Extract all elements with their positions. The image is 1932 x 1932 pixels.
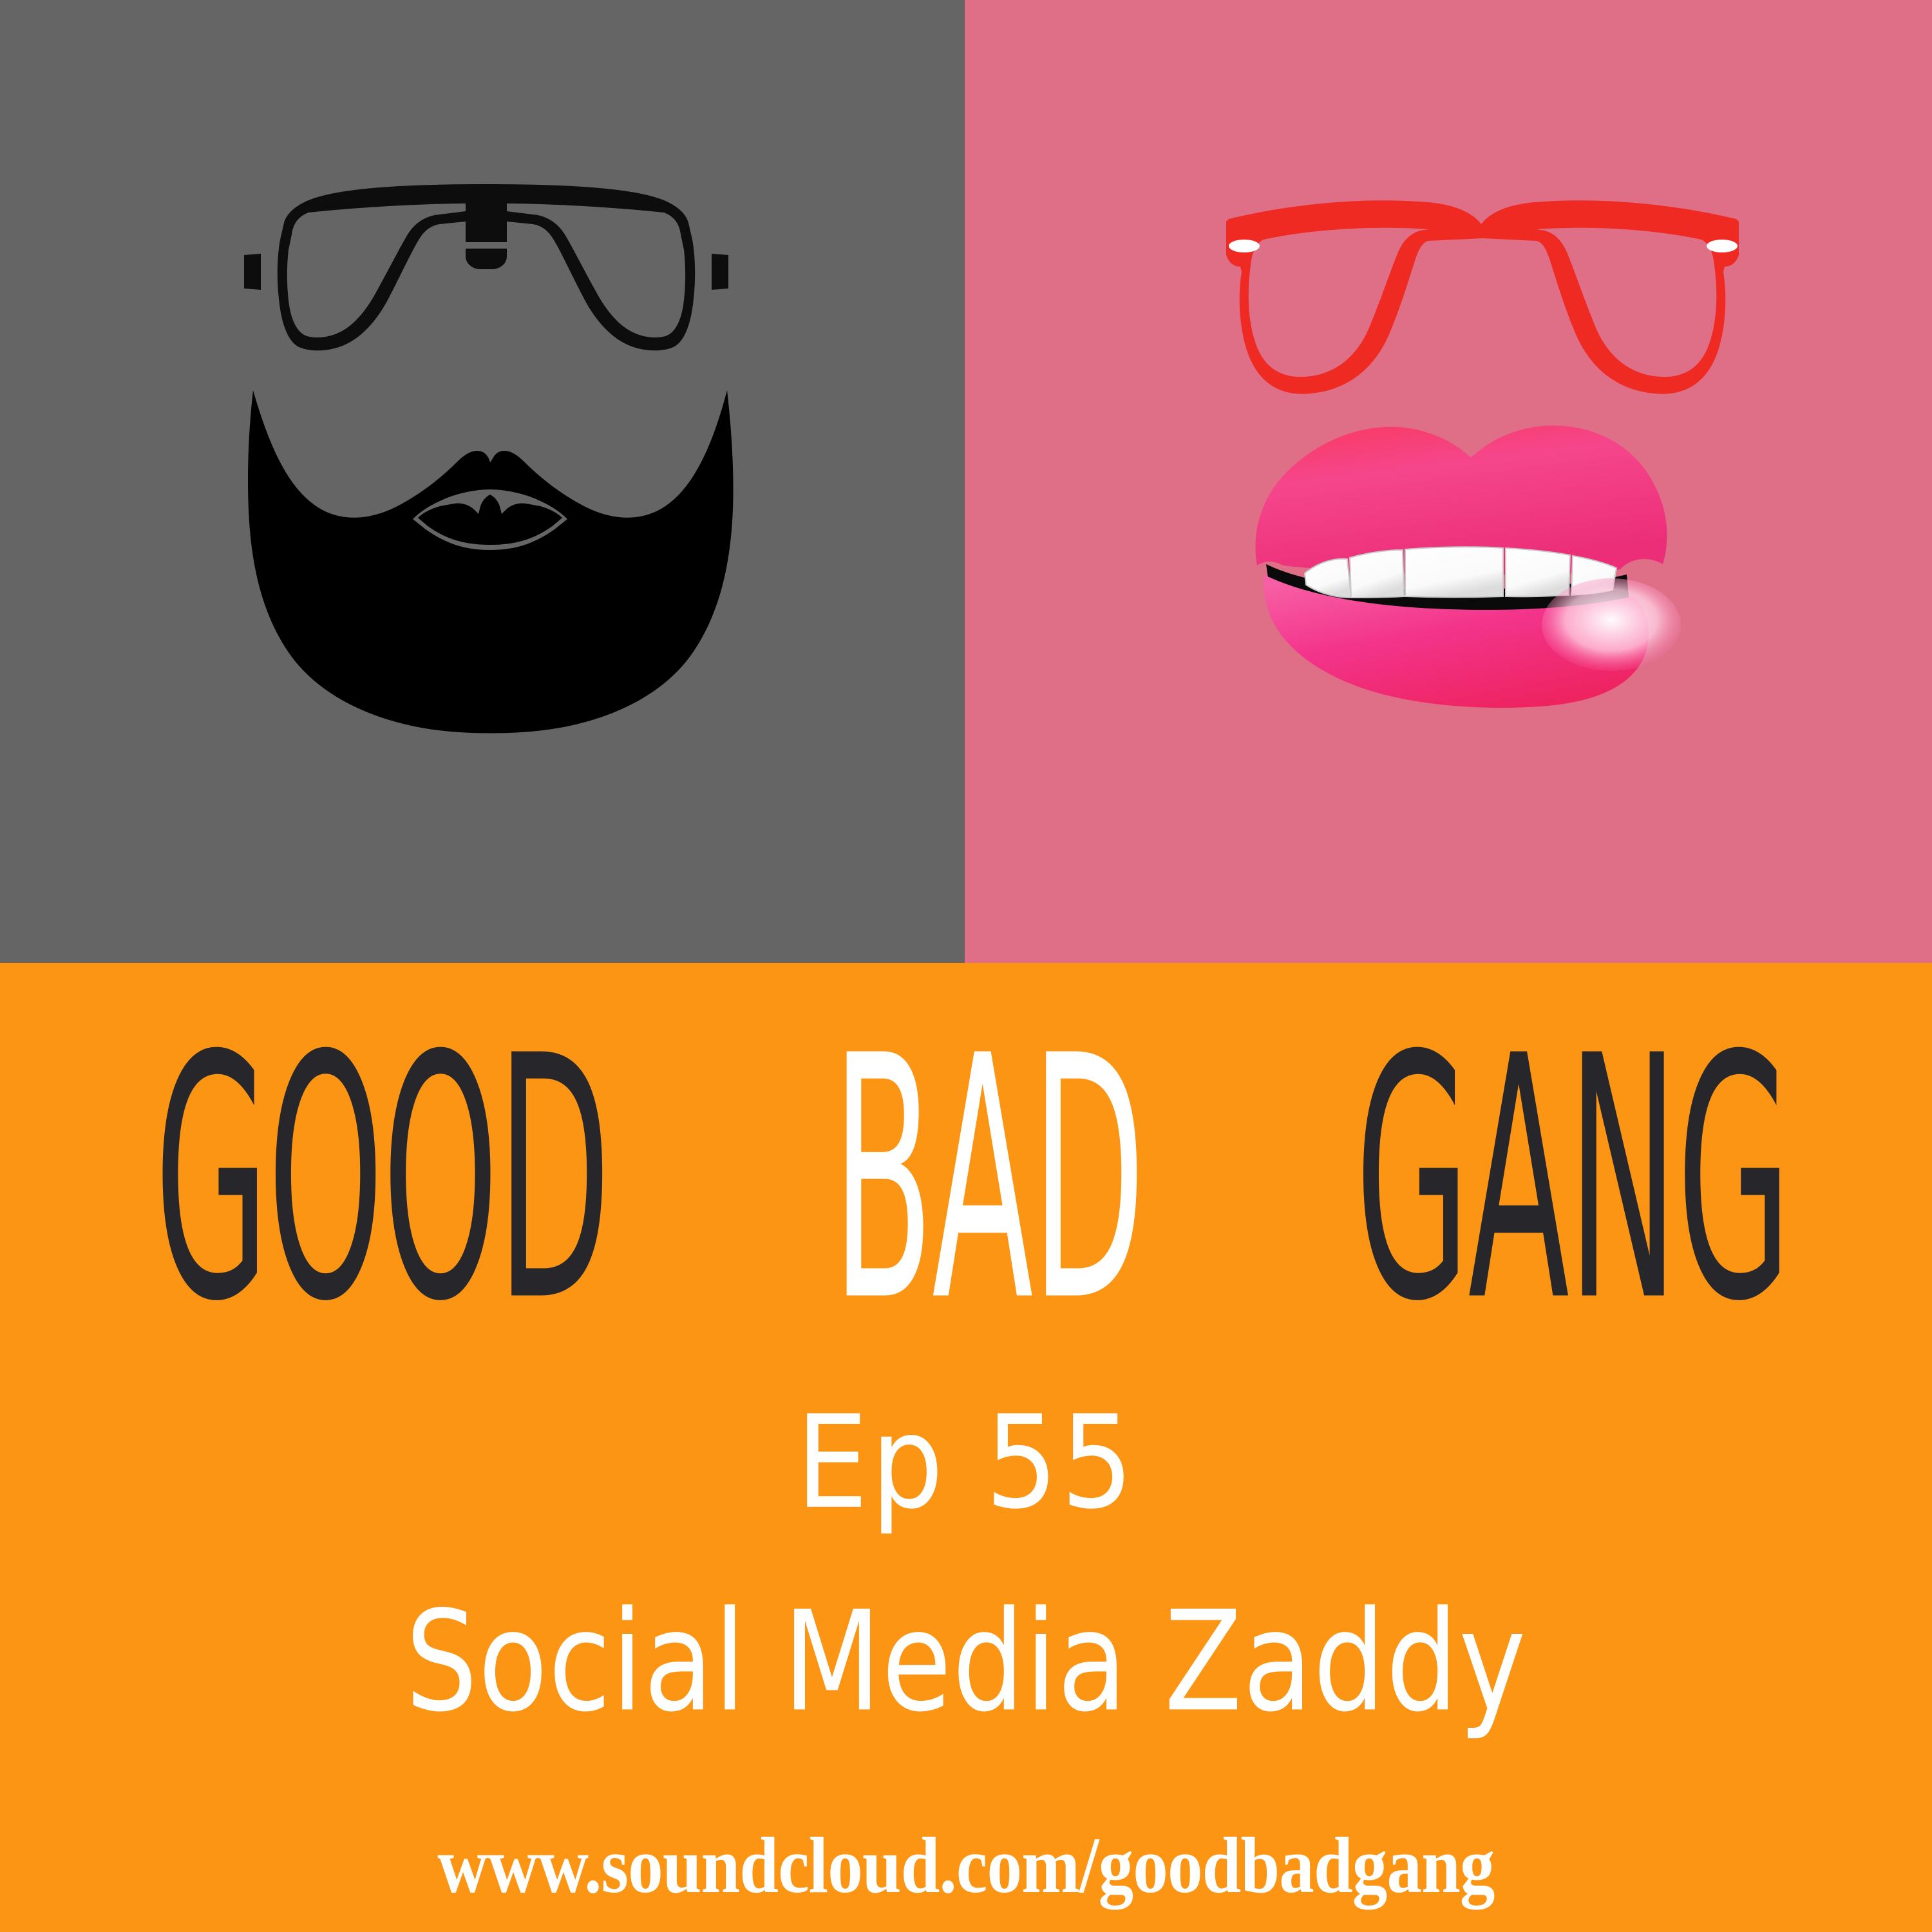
aviator-sunglasses-icon [241, 173, 731, 359]
title-word-good: GOOD [154, 1036, 609, 1323]
title-word-bad: BAD [832, 1036, 1144, 1323]
episode-subtitle: Social Media Zaddy [29, 1581, 1903, 1742]
page-title: GOOD BAD GANG [0, 1036, 1932, 1338]
title-word-gang: GANG [1355, 1036, 1790, 1323]
beard-mustache-icon [235, 386, 744, 734]
left-hinge-dot [1229, 240, 1260, 252]
right-hinge-dot [1707, 240, 1738, 252]
podcast-cover-art: GOOD BAD GANG Ep 55 Social Media Zaddy w… [0, 0, 1932, 1932]
biting-lips-icon [1243, 412, 1694, 708]
lip-gloss-highlight [1542, 578, 1681, 671]
episode-label: Ep 55 [0, 1388, 1932, 1537]
soundcloud-url: www.soundcloud.com/goodbadgang [116, 1820, 1816, 1911]
wayfarer-glasses-icon [1216, 193, 1750, 399]
